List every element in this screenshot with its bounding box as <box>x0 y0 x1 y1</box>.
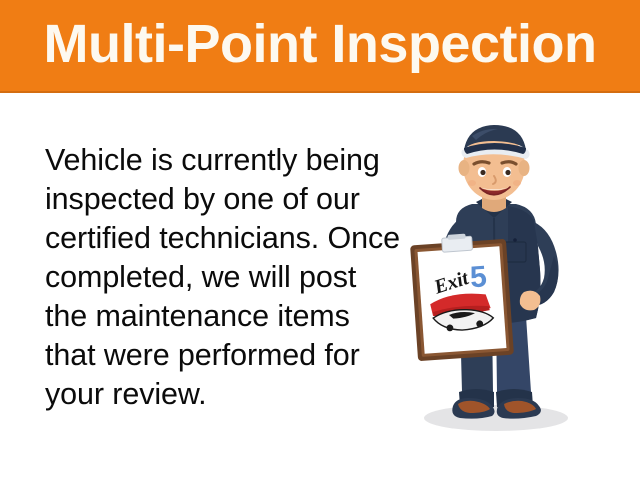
pocket-button <box>513 238 517 242</box>
logo-number: 5 <box>469 260 488 294</box>
header-bar: Multi-Point Inspection <box>0 0 640 93</box>
right-pupil <box>505 170 510 175</box>
ground-shadow <box>424 405 568 431</box>
left-cheek <box>468 180 476 186</box>
hip-hand <box>520 291 541 311</box>
left-pupil <box>480 170 485 175</box>
right-ear <box>519 160 530 176</box>
left-ear <box>459 160 470 176</box>
slide-canvas: Multi-Point Inspection Vehicle is curren… <box>0 0 640 480</box>
chest-pocket <box>504 242 526 262</box>
page-title: Multi-Point Inspection <box>0 9 640 79</box>
clipboard: 5 Exit <box>410 231 514 361</box>
mechanic-illustration: 5 Exit <box>386 120 596 435</box>
right-cheek <box>513 180 521 186</box>
body-paragraph: Vehicle is currently being inspected by … <box>45 141 405 414</box>
